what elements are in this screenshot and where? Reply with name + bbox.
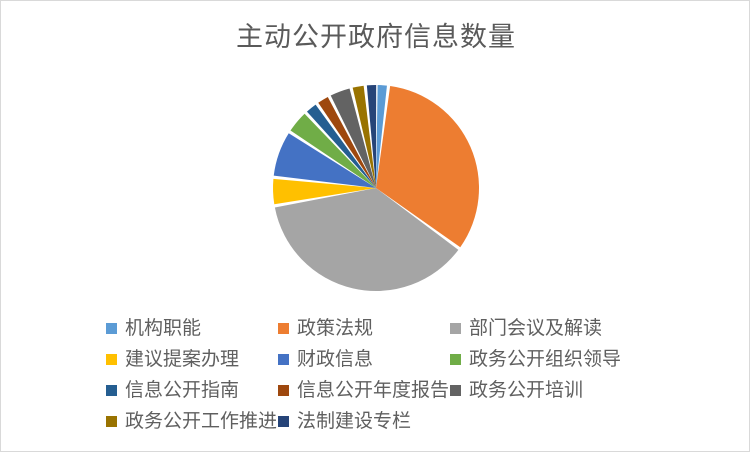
legend-item[interactable]: 部门会议及解读 — [450, 313, 640, 344]
legend-item[interactable]: 机构职能 — [106, 313, 278, 344]
legend-item-label: 信息公开指南 — [125, 381, 239, 400]
legend-swatch-icon — [450, 385, 461, 396]
legend-item-label: 机构职能 — [125, 319, 201, 338]
legend-item[interactable]: 政务公开组织领导 — [450, 344, 640, 375]
legend-item[interactable]: 建议提案办理 — [106, 344, 278, 375]
legend-swatch-icon — [106, 354, 117, 365]
legend-swatch-icon — [450, 323, 461, 334]
legend-item[interactable]: 财政信息 — [278, 344, 450, 375]
legend-item[interactable]: 信息公开指南 — [106, 375, 278, 406]
legend-item[interactable]: 政策法规 — [278, 313, 450, 344]
legend-swatch-icon — [106, 416, 117, 427]
legend-swatch-icon — [278, 385, 289, 396]
legend-swatch-icon — [278, 323, 289, 334]
legend-item[interactable]: 政务公开培训 — [450, 375, 640, 406]
legend-item[interactable]: 政务公开工作推进 — [106, 406, 278, 437]
legend-swatch-icon — [450, 354, 461, 365]
legend-item[interactable]: 法制建设专栏 — [278, 406, 450, 437]
legend-swatch-icon — [106, 323, 117, 334]
legend-item-label: 政策法规 — [297, 319, 373, 338]
legend-swatch-icon — [278, 354, 289, 365]
legend-item-label: 财政信息 — [297, 350, 373, 369]
legend-item-label: 部门会议及解读 — [469, 319, 602, 338]
legend-item-label: 法制建设专栏 — [297, 412, 411, 431]
legend-item[interactable]: 信息公开年度报告 — [278, 375, 450, 406]
legend-swatch-icon — [278, 416, 289, 427]
chart-title: 主动公开政府信息数量 — [1, 15, 750, 54]
legend-item-label: 政务公开培训 — [469, 381, 583, 400]
pie-plot-area — [1, 71, 750, 306]
legend-swatch-icon — [106, 385, 117, 396]
pie-chart-svg — [1, 71, 750, 306]
chart-legend: 机构职能政策法规部门会议及解读建议提案办理财政信息政务公开组织领导信息公开指南信… — [1, 313, 750, 437]
legend-item-label: 建议提案办理 — [125, 350, 239, 369]
chart-container: 主动公开政府信息数量 机构职能政策法规部门会议及解读建议提案办理财政信息政务公开… — [0, 0, 750, 452]
legend-item-label: 政务公开组织领导 — [469, 350, 621, 369]
legend-item-label: 政务公开工作推进 — [125, 412, 277, 431]
legend-item-label: 信息公开年度报告 — [297, 381, 449, 400]
